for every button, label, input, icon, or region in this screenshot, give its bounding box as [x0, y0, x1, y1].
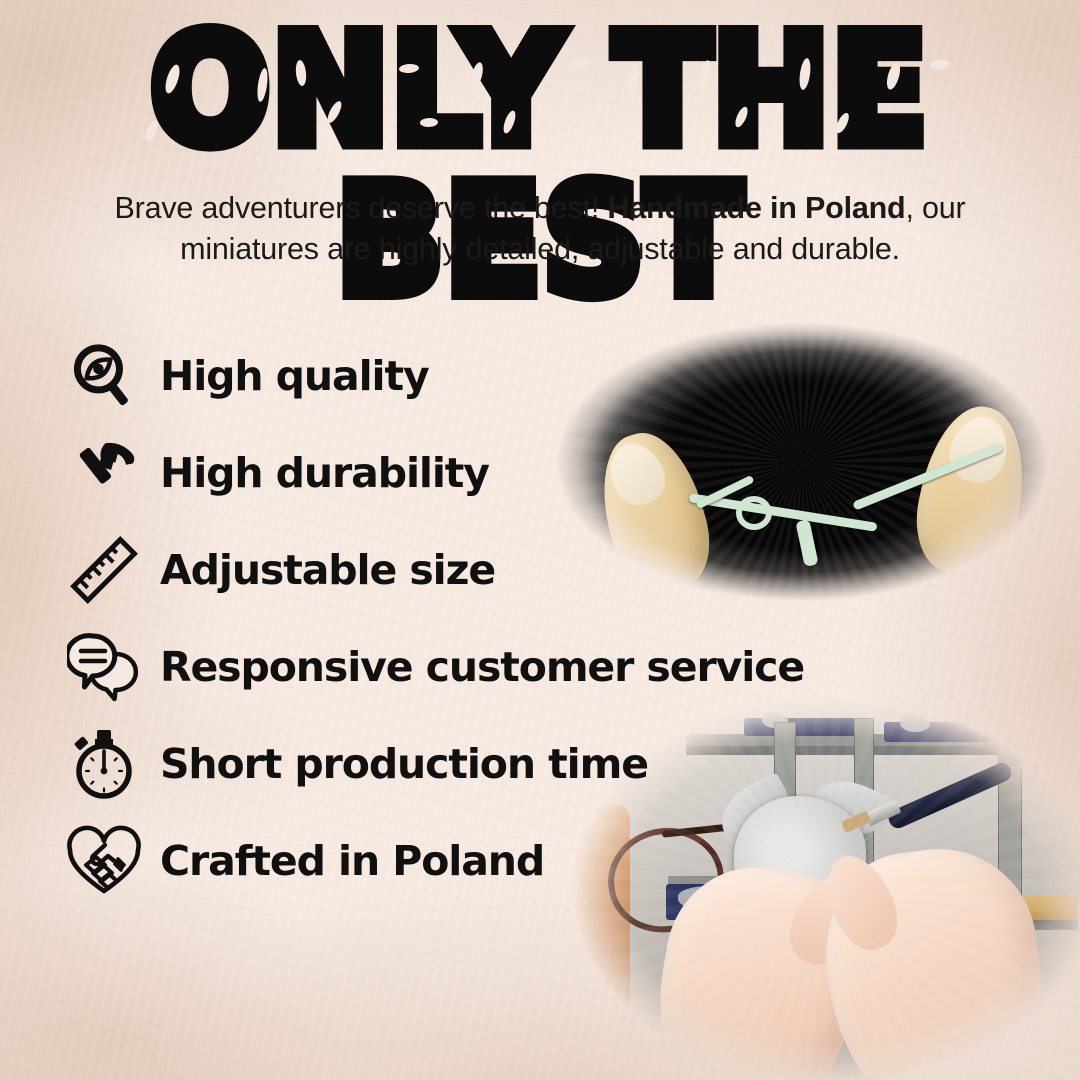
- subtitle-emphasis: Handmade in Poland: [607, 191, 905, 225]
- feature-label: Adjustable size: [160, 546, 495, 594]
- paint-brush-handle: [886, 760, 1014, 831]
- hammer-icon: [62, 431, 146, 515]
- feature-label: High quality: [160, 352, 429, 400]
- stopwatch-icon: [62, 722, 146, 806]
- feature-list: High quality High durability: [62, 327, 802, 909]
- miniature-on-shelf: [900, 714, 930, 732]
- ruler-icon: [62, 528, 146, 612]
- feature-item-high-durability: High durability: [62, 424, 802, 521]
- subtitle: Brave adventurers deserve the best! Hand…: [60, 188, 1020, 270]
- feature-item-responsive-customer-service: Responsive customer service: [62, 618, 802, 715]
- feature-label: High durability: [160, 449, 489, 497]
- magnifier-eye-icon: [62, 334, 146, 418]
- feature-item-short-production-time: Short production time: [62, 715, 802, 812]
- feature-item-adjustable-size: Adjustable size: [62, 521, 802, 618]
- feature-label: Responsive customer service: [160, 643, 804, 691]
- fingertip-right: [905, 397, 1038, 584]
- handshake-heart-icon: [62, 819, 146, 903]
- speech-bubbles-icon: [62, 625, 146, 709]
- feature-label: Short production time: [160, 740, 648, 788]
- page-title-text: ONLY THE BEST: [0, 16, 1080, 317]
- fingernail-right: [942, 409, 1016, 489]
- feature-label: Crafted in Poland: [160, 837, 544, 885]
- subtitle-lead: Brave adventurers deserve the best!: [114, 191, 607, 225]
- feature-item-crafted-in-poland: Crafted in Poland: [62, 812, 802, 909]
- infographic-canvas: ONLY THE BEST Brave adventurers deserve …: [0, 0, 1080, 1080]
- feature-item-high-quality: High quality: [62, 327, 802, 424]
